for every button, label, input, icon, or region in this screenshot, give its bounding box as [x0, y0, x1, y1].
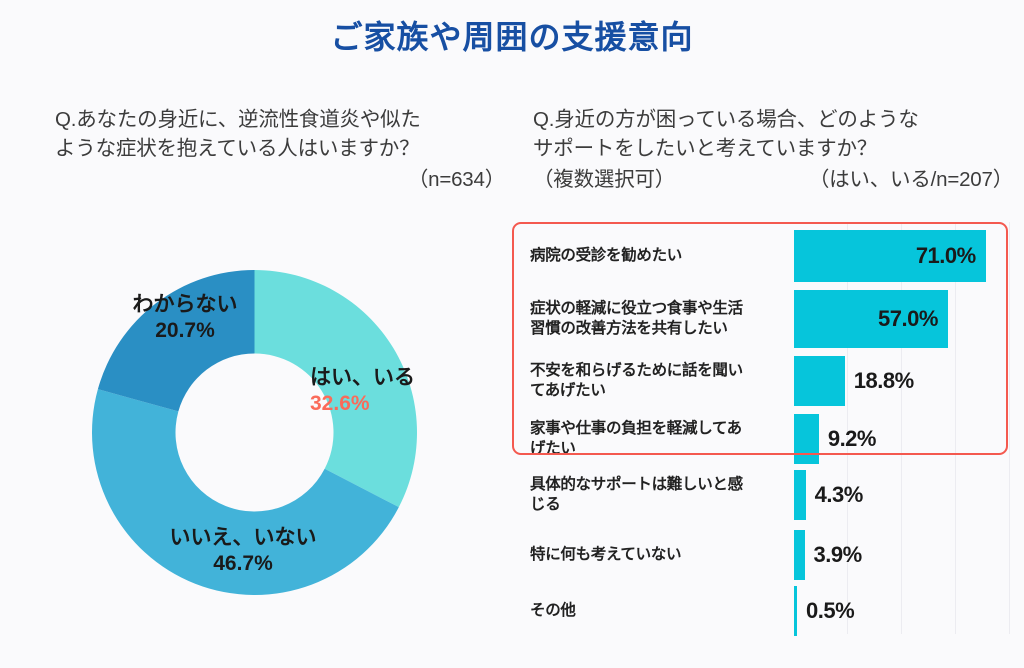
bar-category-label: その他: [512, 601, 794, 621]
right-question-line2: サポートをしたいと考えていますか？: [533, 134, 1013, 163]
bar-category-label: 症状の軽減に役立つ食事や生活習慣の改善方法を共有したい: [512, 299, 794, 339]
bar-track: 9.2%: [794, 414, 1010, 464]
bar-track: 3.9%: [794, 530, 1010, 580]
bar-category-label: 不安を和らげるために話を聞いてあげたい: [512, 361, 794, 401]
donut-label-wakaranai-name: わからない: [105, 292, 265, 318]
bar-category-label: 特に何も考えていない: [512, 545, 794, 565]
donut-label-wakaranai: わからない 20.7%: [105, 292, 265, 343]
left-question-block: Q.あなたの身近に、逆流性食道炎や似た ような症状を抱えている人はいますか？ （…: [55, 105, 505, 194]
bar-category-line1: 不安を和らげるために話を聞い: [530, 361, 794, 381]
donut-label-iie: いいえ、いない 46.7%: [128, 525, 358, 576]
bar-value-label: 9.2%: [828, 426, 876, 452]
bar-fill[interactable]: [794, 356, 845, 406]
bar-fill[interactable]: [794, 414, 819, 464]
bar-category-line1: 家事や仕事の負担を軽減してあ: [530, 419, 794, 439]
bar-value-label: 0.5%: [806, 598, 854, 624]
bar-category-line1: その他: [530, 601, 794, 621]
donut-label-iie-name: いいえ、いない: [128, 525, 358, 551]
right-multi-select-note: （複数選択可）: [533, 165, 675, 194]
bar-category-line1: 特に何も考えていない: [530, 545, 794, 565]
bar-track: 0.5%: [794, 586, 1010, 636]
bar-row[interactable]: 病院の受診を勧めたい71.0%: [512, 230, 1010, 282]
bar-chart-rows: 病院の受診を勧めたい71.0%症状の軽減に役立つ食事や生活習慣の改善方法を共有し…: [512, 222, 1010, 634]
page-title: ご家族や周囲の支援意向: [0, 18, 1024, 56]
bar-value-label: 3.9%: [814, 542, 862, 568]
donut-label-hai-name: はい、いる: [310, 365, 475, 391]
bar-category-line2: てあげたい: [530, 381, 794, 401]
bar-category-label: 具体的なサポートは難しいと感じる: [512, 475, 794, 515]
bar-category-line1: 症状の軽減に役立つ食事や生活: [530, 299, 794, 319]
bar-track: 4.3%: [794, 470, 1010, 520]
bar-chart: 病院の受診を勧めたい71.0%症状の軽減に役立つ食事や生活習慣の改善方法を共有し…: [512, 222, 1010, 634]
bar-row[interactable]: 症状の軽減に役立つ食事や生活習慣の改善方法を共有したい57.0%: [512, 290, 1010, 348]
bar-row[interactable]: 具体的なサポートは難しいと感じる4.3%: [512, 470, 1010, 520]
bar-value-label: 57.0%: [878, 306, 938, 332]
bar-value-label: 18.8%: [854, 368, 914, 394]
bar-track: 71.0%: [794, 230, 1010, 282]
donut-label-hai: はい、いる 32.6%: [310, 365, 475, 416]
left-question-line2: ような症状を抱えている人はいますか？: [55, 134, 505, 163]
bar-row[interactable]: 不安を和らげるために話を聞いてあげたい18.8%: [512, 356, 1010, 406]
donut-label-hai-value: 32.6%: [310, 391, 475, 417]
right-question-line1: Q.身近の方が困っている場合、どのような: [533, 105, 1013, 134]
bar-fill[interactable]: [794, 530, 805, 580]
donut-label-wakaranai-value: 20.7%: [105, 318, 265, 344]
bar-track: 18.8%: [794, 356, 1010, 406]
bar-category-line2: 習慣の改善方法を共有したい: [530, 319, 794, 339]
bar-row[interactable]: 特に何も考えていない3.9%: [512, 530, 1010, 580]
bar-row[interactable]: その他0.5%: [512, 586, 1010, 636]
left-sample-size: （n=634）: [55, 165, 505, 194]
bar-category-line2: じる: [530, 495, 794, 515]
bar-category-label: 病院の受診を勧めたい: [512, 246, 794, 266]
bar-fill[interactable]: [794, 586, 797, 636]
donut-label-iie-value: 46.7%: [128, 551, 358, 577]
right-question-block: Q.身近の方が困っている場合、どのような サポートをしたいと考えていますか？ （…: [533, 105, 1013, 194]
bar-row[interactable]: 家事や仕事の負担を軽減してあげたい9.2%: [512, 414, 1010, 464]
bar-category-line1: 具体的なサポートは難しいと感: [530, 475, 794, 495]
bar-value-label: 4.3%: [815, 482, 863, 508]
bar-value-label: 71.0%: [916, 243, 976, 269]
bar-category-line1: 病院の受診を勧めたい: [530, 246, 794, 266]
bar-fill[interactable]: [794, 470, 806, 520]
left-question-line1: Q.あなたの身近に、逆流性食道炎や似た: [55, 105, 505, 134]
bar-track: 57.0%: [794, 290, 1010, 348]
bar-category-label: 家事や仕事の負担を軽減してあげたい: [512, 419, 794, 459]
right-sample-size: （はい、いる/n=207）: [809, 165, 1013, 194]
bar-category-line2: げたい: [530, 439, 794, 459]
